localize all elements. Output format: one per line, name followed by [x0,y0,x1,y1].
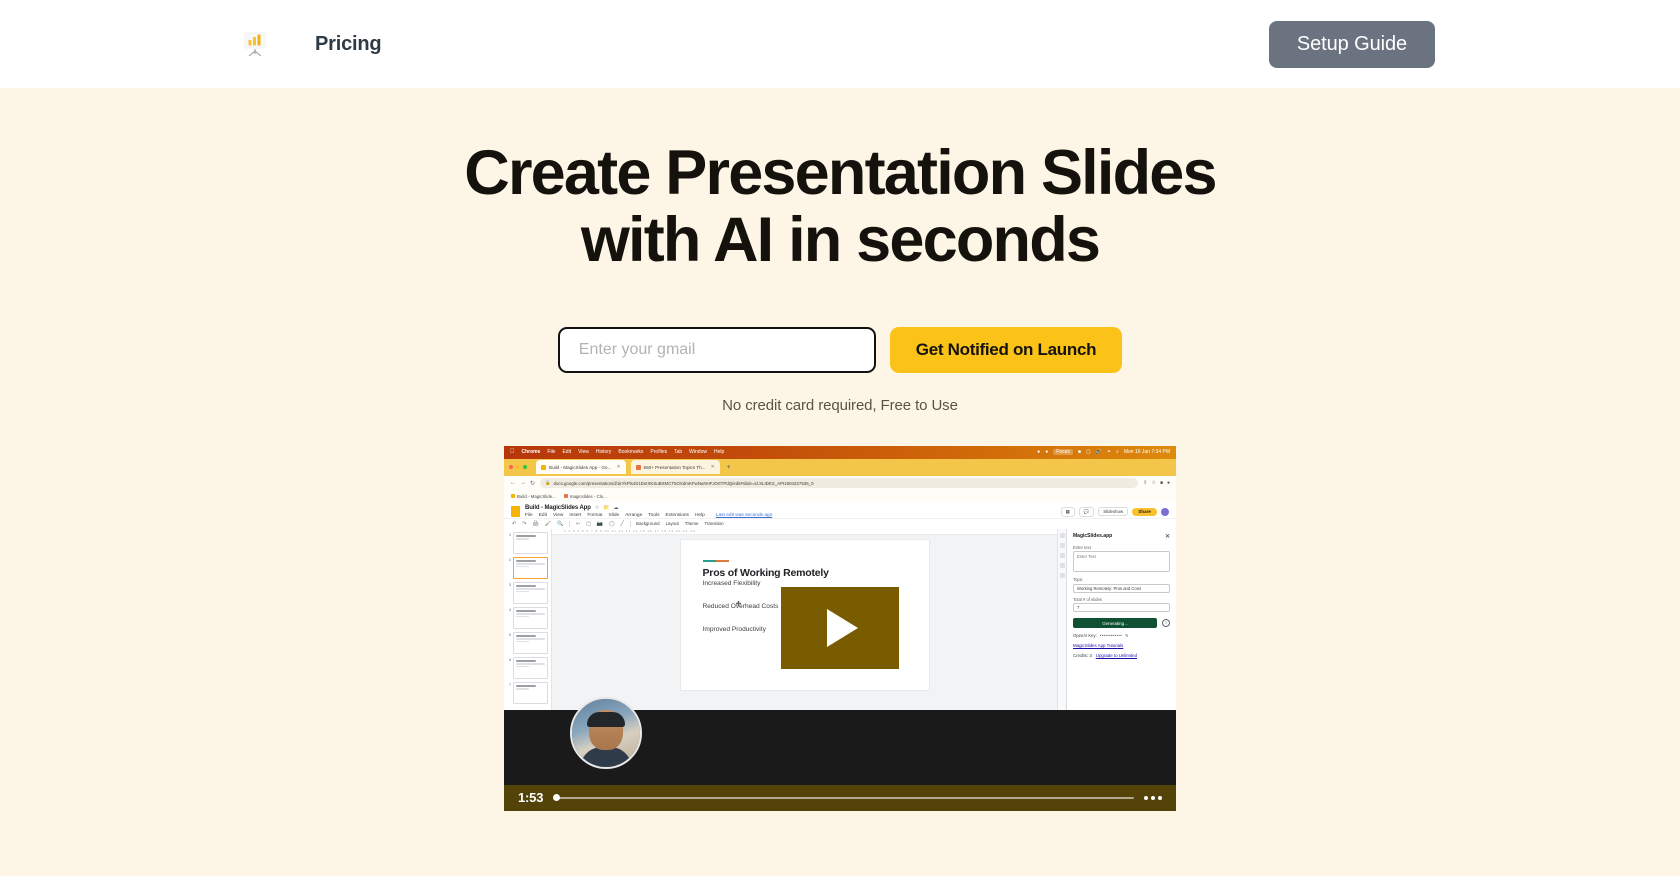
slide-number: 4 [507,607,511,629]
toolbar-layout-button[interactable]: Layout [666,521,679,526]
signup-form: Get Notified on Launch [0,327,1680,373]
demo-video-player[interactable]:  Chrome File Edit View History Bookmark… [504,446,1176,811]
maximize-window-icon[interactable] [523,465,527,469]
shape-icon[interactable]: ◯ [609,521,615,527]
menu-view[interactable]: View [553,513,563,518]
slide-bullet[interactable]: Increased Flexibility [703,580,907,587]
filmstrip-slide[interactable]: 1 [507,532,548,554]
search-icon: ⌕ [1116,449,1119,455]
url-text: docs.google.com/presentation/d/1kYkPls4S… [554,481,814,486]
tab-close-icon[interactable]: ✕ [616,464,620,470]
openai-key-label: OpenAI Key: [1073,633,1097,638]
mac-menu-item: Tab [674,449,682,455]
mac-status-items: ● ● Focus ■ ▢ 🔊 ⚭ ⌕ Mon 16 Jan 7:34 PM [1037,449,1170,455]
video-frame-content:  Chrome File Edit View History Bookmark… [504,446,1176,811]
filmstrip-slide[interactable]: 3 [507,582,548,604]
wifi-icon: ⚭ [1107,449,1111,455]
slide-number: 6 [507,657,511,679]
mac-menu-item: History [596,449,612,455]
browser-tab-strip: Build - MagicSlides App - Go... ✕ 550+ P… [504,459,1176,476]
slides-count-field-group: Total # of slides [1073,597,1170,613]
lock-icon: 🔒 [545,480,550,486]
select-icon[interactable]: ➳ [576,521,580,527]
url-bar-actions[interactable]: ⇧ ☆ ■ ● [1143,480,1170,486]
slide-thumbnail-selected[interactable] [513,557,548,579]
accent-bar-teal [703,560,716,562]
back-icon[interactable]: ← [510,480,516,487]
filmstrip-slide[interactable]: 4 [507,607,548,629]
window-traffic-lights[interactable] [509,465,527,469]
video-control-bar[interactable]: 1:53 [504,785,1176,811]
battery-icon: ■ [1078,449,1081,455]
video-scrubber[interactable] [553,796,1134,799]
status-icon: ● [1045,449,1048,455]
setup-guide-button[interactable]: Setup Guide [1269,21,1435,68]
url-input[interactable]: 🔒 docs.google.com/presentation/d/1kYkPls… [540,478,1138,488]
slide-thumbnail[interactable] [513,532,548,554]
cloud-saved-icon: ☁ [614,505,619,511]
bookmark-star-icon[interactable]: ☆ [1151,480,1155,486]
slide-title[interactable]: Pros of Working Remotely [703,567,907,579]
top-navigation-bar: Pricing Setup Guide [0,0,1680,88]
extensions-icon[interactable]: ■ [1160,480,1163,486]
topic-input[interactable] [1073,584,1170,593]
enter-text-label: Enter text [1073,545,1170,550]
screen-icon: ▢ [1086,449,1091,455]
menu-format[interactable]: Format [587,513,602,518]
keep-addon-icon[interactable] [1060,543,1065,548]
bookmark-label: magicslides - Clo... [570,494,607,499]
status-icon: ● [1037,449,1040,455]
browser-tab[interactable]: 550+ Presentation Topics Th... ✕ [631,460,720,474]
present-mode-icon[interactable]: ▦ [1061,507,1075,517]
tasks-addon-icon[interactable] [1060,553,1065,558]
menu-extensions[interactable]: Extensions [665,513,688,518]
tab-favicon-icon [541,465,546,470]
slides-side-rail [1057,529,1066,710]
page-title-line1: Create Presentation Slides [464,138,1216,208]
mac-menu-bar:  Chrome File Edit View History Bookmark… [504,446,1176,459]
horizontal-ruler: 1 2 3 4 5 6 7 8 9 10 11 12 13 14 15 16 1… [552,529,1057,535]
crosshair-cursor-icon: ✚ [736,600,742,608]
bookmark-favicon-icon [564,494,568,498]
browser-tab-title: Build - MagicSlides App - Go... [549,465,611,470]
slide-number: 7 [507,682,511,704]
filmstrip-slide[interactable]: 5 [507,632,548,654]
topic-label: Topic [1073,577,1170,582]
textbox-icon[interactable]: ▢ [586,521,591,527]
upgrade-link[interactable]: Upgrade to Unlimited [1096,653,1137,658]
reload-icon[interactable]: ↻ [530,480,535,487]
nav-link-pricing[interactable]: Pricing [315,33,381,56]
slide-thumbnail[interactable] [513,582,548,604]
presentation-chart-logo-icon[interactable] [235,24,275,64]
play-button-overlay[interactable] [781,587,899,669]
volume-icon: 🔊 [1096,449,1102,455]
more-options-dots-icon[interactable] [1144,796,1162,800]
landing-page: Pricing Setup Guide Create Presentation … [0,0,1680,876]
bookmark-item[interactable]: magicslides - Clo... [564,494,607,499]
browser-nav-arrows[interactable]: ← → ↻ [510,480,535,487]
browser-tab-title: 550+ Presentation Topics Th... [644,465,706,470]
slides-app-header: Build - MagicSlides App ☆ 📁 ☁ File Edit … [504,502,1176,518]
close-window-icon[interactable] [509,465,513,469]
move-folder-icon[interactable]: 📁 [603,505,609,511]
bookmark-label: Build - MagicSlide... [517,494,556,499]
slideshow-button[interactable]: Slideshow [1098,507,1128,516]
slide-number: 5 [507,632,511,654]
slide-number: 3 [507,582,511,604]
magicslides-panel-header: MagicSlides.app ✕ [1073,533,1170,540]
signup-subtext: No credit card required, Free to Use [0,397,1680,414]
tab-favicon-icon [636,465,641,470]
document-title[interactable]: Build - MagicSlides App [525,505,591,511]
print-icon[interactable]: 🖨 [532,521,538,527]
slides-title-block: Build - MagicSlides App ☆ 📁 ☁ File Edit … [525,505,772,518]
slides-header-actions: ▦ 💬 Slideshow Share [1061,505,1169,517]
mac-menu-item: Profiles [650,449,667,455]
redo-icon[interactable]: ↷ [522,521,526,527]
tutorials-link[interactable]: MagicSlides App Tutorials [1073,643,1170,648]
menu-file[interactable]: File [525,513,533,518]
mac-menu-item: File [547,449,555,455]
share-button[interactable]: Share [1132,508,1157,516]
mac-menu-item: Chrome [522,449,541,455]
line-icon[interactable]: ╱ [621,521,624,527]
undo-icon[interactable]: ↶ [512,521,516,527]
openai-key-value: •••••••••••• [1100,633,1122,638]
toolbar-divider [569,521,570,527]
toolbar-divider [630,521,631,527]
slides-menu-bar: File Edit View Insert Format Slide Arran… [525,513,772,518]
bookmark-item[interactable]: Build - MagicSlide... [511,494,556,499]
accent-bar-orange [716,560,729,562]
menu-tools[interactable]: Tools [648,513,659,518]
minimize-window-icon[interactable] [516,465,520,469]
slide-thumbnail[interactable] [513,632,548,654]
credits-label: Credits: 3 [1073,653,1092,658]
email-input[interactable] [558,327,876,373]
slide-filmstrip[interactable]: 1 2 3 [504,529,552,710]
topic-field-group: Topic [1073,577,1170,593]
nav-left-group: Pricing [235,24,381,64]
new-tab-icon[interactable]: + [727,464,731,471]
bookmark-favicon-icon [511,494,515,498]
apple-logo-icon:  [510,449,515,455]
mac-menu-item: Window [689,449,707,455]
slide-accent-bars [703,560,907,562]
get-notified-button[interactable]: Get Notified on Launch [890,327,1122,373]
zoom-icon[interactable]: 🔍 [557,521,563,527]
toolbar-transition-button[interactable]: Transition [704,521,723,526]
webcam-person-cap [587,712,625,727]
slides-count-label: Total # of slides [1073,597,1170,602]
filmstrip-slide[interactable]: 7 [507,682,548,704]
slide-number: 1 [507,532,511,554]
share-icon[interactable]: ⇧ [1143,480,1147,486]
slide-thumbnail[interactable] [513,657,548,679]
generate-button[interactable]: Generating .. [1073,618,1157,628]
slides-toolbar: ↶ ↷ 🖨 🖌 🔍 ➳ ▢ 📷 ◯ ╱ Background Layout Th… [504,518,1176,529]
mac-menu-item: Help [714,449,724,455]
slide-thumbnail[interactable] [513,607,548,629]
bookmarks-bar: Build - MagicSlide... magicslides - Clo.… [504,491,1176,502]
play-triangle-icon[interactable] [827,609,858,647]
menu-insert[interactable]: Insert [569,513,581,518]
menu-help[interactable]: Help [695,513,705,518]
filmstrip-slide[interactable]: 2 [507,557,548,579]
enter-text-field-group: Enter text [1073,545,1170,574]
page-title-line2: with AI in seconds [0,207,1680,274]
browser-url-bar: ← → ↻ 🔒 docs.google.com/presentation/d/1… [504,476,1176,491]
browser-tab[interactable]: Build - MagicSlides App - Go... ✕ [536,460,626,474]
menu-slide[interactable]: Slide [609,513,620,518]
generate-row: Generating .. ⏱ [1073,618,1170,628]
calendar-addon-icon[interactable] [1060,533,1065,538]
last-edit-label[interactable]: Last edit was seconds ago [716,513,773,518]
magicslides-panel-title: MagicSlides.app [1073,533,1112,539]
tab-close-icon[interactable]: ✕ [711,464,715,470]
filmstrip-slide[interactable]: 6 [507,657,548,679]
add-addon-icon[interactable] [1060,573,1065,578]
scrubber-handle[interactable] [553,794,560,801]
enter-text-input[interactable] [1073,551,1170,572]
timer-icon: ⏱ [1162,619,1170,627]
star-icon[interactable]: ☆ [595,505,599,511]
openai-key-row: OpenAI Key: •••••••••••• ✎ [1073,633,1170,638]
slide-number: 2 [507,557,511,579]
video-time-label: 1:53 [518,790,543,805]
paint-format-icon[interactable]: 🖌 [545,521,551,527]
webcam-bubble [570,697,642,769]
magicslides-panel: MagicSlides.app ✕ Enter text Topic Total… [1066,529,1176,710]
comment-icon[interactable]: 💬 [1079,507,1094,517]
image-icon[interactable]: 📷 [597,521,603,527]
google-slides-logo-icon [511,506,520,517]
hero-section: Create Presentation Slides with AI in se… [0,88,1680,414]
focus-status: Focus [1053,449,1073,455]
profile-avatar[interactable]: ● [1167,480,1170,486]
credits-row: Credits: 3 Upgrade to Unlimited [1073,653,1170,658]
mac-menu-item: View [578,449,589,455]
slides-count-input[interactable] [1073,603,1170,612]
close-x-icon[interactable]: ✕ [1165,533,1170,540]
toolbar-background-button[interactable]: Background [636,521,659,526]
forward-icon[interactable]: → [520,480,526,487]
slide-thumbnail[interactable] [513,682,548,704]
clock-label: Mon 16 Jan 7:34 PM [1124,449,1170,455]
menu-arrange[interactable]: Arrange [625,513,642,518]
toolbar-theme-button[interactable]: Theme [685,521,699,526]
edit-pencil-icon[interactable]: ✎ [1125,633,1129,638]
contacts-addon-icon[interactable] [1060,563,1065,568]
mac-menu-item: Edit [562,449,571,455]
page-title: Create Presentation Slides with AI in se… [0,140,1680,275]
menu-edit[interactable]: Edit [539,513,547,518]
mac-menu-item: Bookmarks [618,449,643,455]
user-avatar[interactable] [1161,508,1169,516]
scrubber-track[interactable] [553,797,1134,799]
